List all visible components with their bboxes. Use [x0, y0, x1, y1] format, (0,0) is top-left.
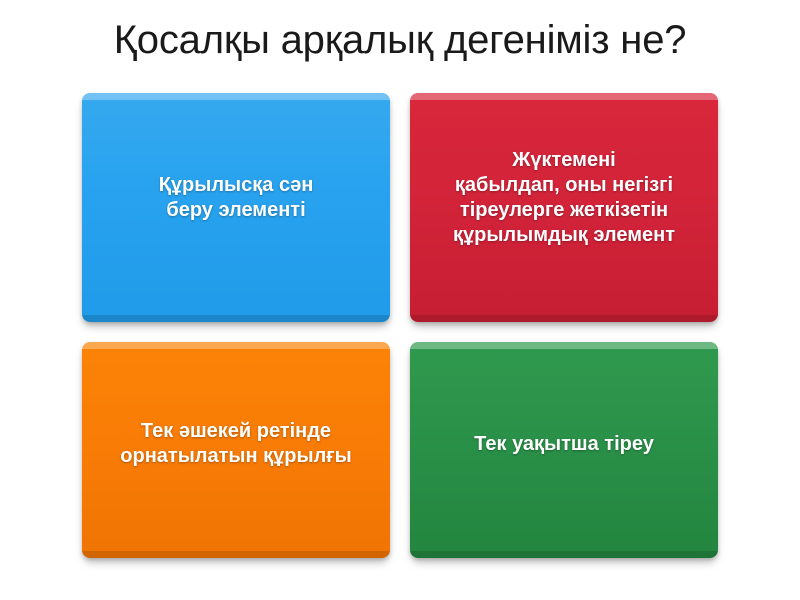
answer-options-grid: Құрылысқа сән беру элементі Жүктемені қа… [82, 93, 718, 558]
answer-option-orange[interactable]: Тек әшекей ретінде орнатылатын құрылғы [82, 342, 390, 558]
answer-option-green[interactable]: Тек уақытша тіреу [410, 342, 718, 558]
answer-option-blue-label: Құрылысқа сән беру элементі [159, 173, 314, 223]
answer-option-red[interactable]: Жүктемені қабылдап, оны негізгі тіреулер… [410, 93, 718, 322]
answer-option-red-label: Жүктемені қабылдап, оны негізгі тіреулер… [453, 148, 675, 248]
answer-option-orange-label: Тек әшекей ретінде орнатылатын құрылғы [120, 419, 351, 469]
answer-option-green-label: Тек уақытша тіреу [474, 432, 654, 457]
quiz-screen: Қосалқы арқалық дегеніміз не? Құрылысқа … [0, 0, 800, 600]
page-title: Қосалқы арқалық дегеніміз не? [0, 14, 800, 66]
answer-option-blue[interactable]: Құрылысқа сән беру элементі [82, 93, 390, 322]
